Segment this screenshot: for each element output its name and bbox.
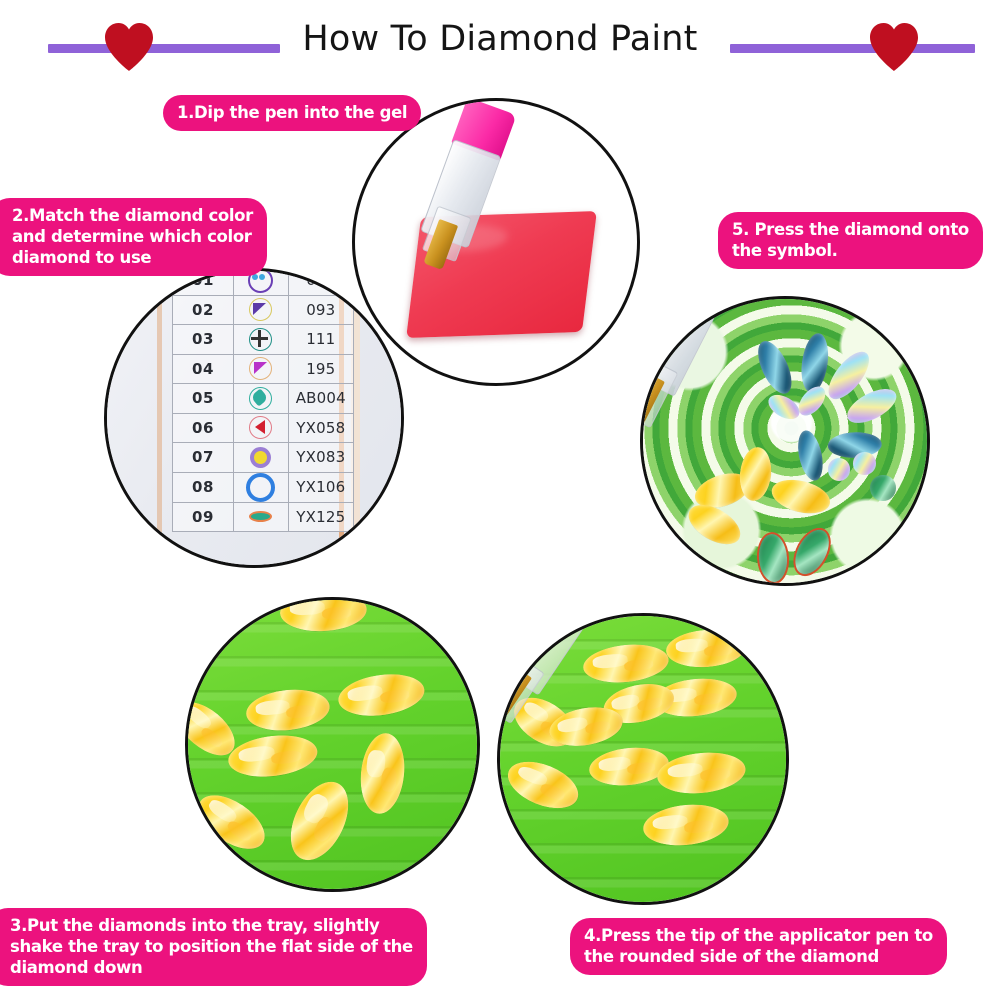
chart-row-number: 03 [172, 325, 234, 355]
table-row: 09 YX125 [172, 502, 353, 532]
chart-row-code: 195 [288, 354, 353, 384]
chart-row-number: 07 [172, 443, 234, 473]
step-3-label-line-3: diamond down [10, 957, 413, 978]
chart-row-number: 06 [172, 413, 234, 443]
chart-row-code: 020 [288, 268, 353, 295]
step-3-photo [185, 597, 480, 892]
chart-row-code: YX106 [288, 472, 353, 502]
step-2-label-line-1: 2.Match the diamond color [12, 205, 253, 226]
chart-row-symbol [234, 472, 288, 502]
table-row: 07 YX083 [172, 443, 353, 473]
triangle-icon [249, 298, 272, 321]
chart-row-number: 08 [172, 472, 234, 502]
canvas-gem [853, 452, 876, 475]
step-4-photo [497, 613, 789, 905]
dot-ring-icon [250, 447, 271, 468]
chart-row-number: 04 [172, 354, 234, 384]
step-4-label-line-1: 4.Press the tip of the applicator pen to [584, 925, 933, 946]
leaf-icon [250, 506, 271, 527]
canvas-gem [828, 458, 851, 481]
chart-row-code: YX125 [288, 502, 353, 532]
table-row: 04 195 [172, 354, 353, 384]
arrow-icon [249, 416, 272, 439]
paper-edge [157, 271, 162, 565]
infographic-canvas: How To Diamond Paint 01 [0, 0, 1000, 1000]
step-4-label-line-2: the rounded side of the diamond [584, 946, 933, 967]
table-row: 02 093 [172, 295, 353, 325]
chart-row-symbol [234, 354, 288, 384]
ring-icon [246, 473, 275, 502]
chart-row-symbol [234, 295, 288, 325]
chart-row-symbol [234, 443, 288, 473]
page-title: How To Diamond Paint [0, 19, 1000, 59]
step-1-label-line-1: 1.Dip the pen into the gel [177, 102, 407, 123]
chart-row-code: 111 [288, 325, 353, 355]
plus-icon [249, 328, 272, 351]
step-3-label-line-2: shake the tray to position the flat side… [10, 936, 413, 957]
chart-row-symbol [234, 502, 288, 532]
table-row: 06 YX058 [172, 413, 353, 443]
chart-row-number: 09 [172, 502, 234, 532]
triangle-icon [249, 357, 272, 380]
chart-row-symbol [234, 413, 288, 443]
step-3-label-line-1: 3.Put the diamonds into the tray, slight… [10, 915, 413, 936]
chart-row-code: YX058 [288, 413, 353, 443]
table-row: 08 YX106 [172, 472, 353, 502]
table-row: 03 111 [172, 325, 353, 355]
step-2-photo: 01 020 02 [104, 268, 404, 568]
step-5-label: 5. Press the diamond onto the symbol. [718, 212, 983, 269]
step-2-label-line-2: and determine which color [12, 226, 253, 247]
chart-row-number: 05 [172, 384, 234, 414]
step-2-label: 2.Match the diamond color and determine … [0, 198, 267, 276]
chart-row-number: 02 [172, 295, 234, 325]
oval-icon [249, 387, 272, 410]
chart-row-symbol [234, 384, 288, 414]
chart-row-code: AB004 [288, 384, 353, 414]
chart-row-code: YX083 [288, 443, 353, 473]
chart-row-code: 093 [288, 295, 353, 325]
step-3-label: 3.Put the diamonds into the tray, slight… [0, 908, 427, 986]
chart-row-symbol [234, 325, 288, 355]
step-5-label-line-2: the symbol. [732, 240, 969, 261]
color-chart-table: 01 020 02 [172, 268, 354, 532]
step-2-label-line-3: diamond to use [12, 247, 253, 268]
step-5-photo [640, 296, 930, 586]
canvas-gem [870, 475, 896, 501]
table-row: 05 AB004 [172, 384, 353, 414]
step-5-label-line-1: 5. Press the diamond onto [732, 219, 969, 240]
step-4-label: 4.Press the tip of the applicator pen to… [570, 918, 947, 975]
step-1-label: 1.Dip the pen into the gel [163, 95, 421, 131]
